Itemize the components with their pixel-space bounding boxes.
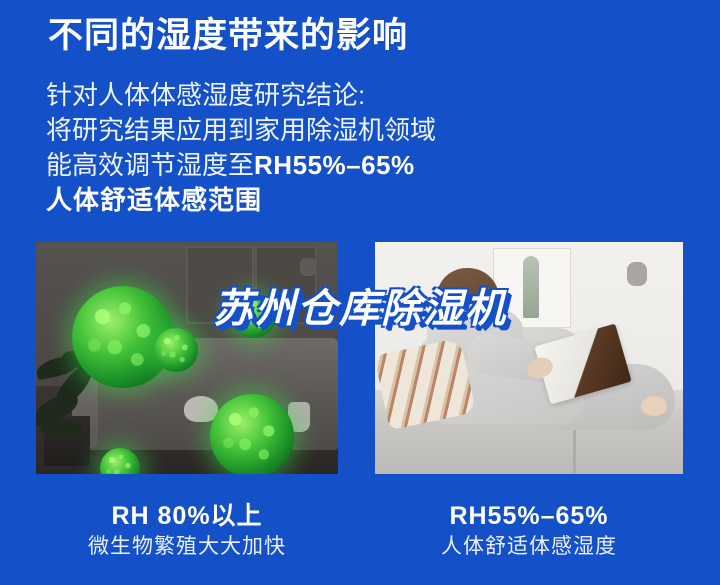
germ-cluster-bottom [210, 394, 294, 474]
germ-cluster-top [232, 294, 276, 338]
body-line-2: 将研究结果应用到家用除湿机领域 [46, 113, 436, 148]
body-copy-block: 针对人体体感湿度研究结论: 将研究结果应用到家用除湿机领域 能高效调节湿度至RH… [46, 78, 436, 218]
dark-room-scene [36, 242, 338, 474]
germ-texture [210, 394, 294, 474]
wall-switch [300, 258, 316, 276]
body-line-3-prefix: 能高效调节湿度至 [46, 150, 254, 180]
body-line-3: 能高效调节湿度至RH55%–65% [46, 148, 436, 183]
wall-knob [627, 262, 647, 286]
photo-comfort-humidity [375, 242, 683, 474]
wall-art-plant [523, 256, 539, 318]
caption-subtitle: 人体舒适体感湿度 [375, 532, 683, 562]
photo-comparison [0, 242, 720, 474]
caption-high-humidity: RH 80%以上 微生物繁殖大大加快 [36, 500, 338, 562]
caption-title: RH55%–65% [375, 500, 683, 532]
body-line-4: 人体舒适体感范围 [46, 183, 436, 218]
germ-cluster-medium [154, 328, 198, 372]
caption-subtitle: 微生物繁殖大大加快 [36, 532, 338, 562]
caption-title: RH 80%以上 [36, 500, 338, 532]
humidity-infographic-poster: 不同的湿度带来的影响 针对人体体感湿度研究结论: 将研究结果应用到家用除湿机领域… [0, 0, 720, 585]
person-foot [641, 396, 667, 416]
bright-room-scene [375, 242, 683, 474]
photo-high-humidity [36, 242, 338, 474]
body-line-1: 针对人体体感湿度研究结论: [46, 78, 436, 113]
germ-texture [232, 294, 276, 338]
page-title: 不同的湿度带来的影响 [48, 14, 408, 58]
germ-texture [154, 328, 198, 372]
caption-comfort-humidity: RH55%–65% 人体舒适体感湿度 [375, 500, 683, 562]
body-line-3-humidity-range: RH55%–65% [254, 150, 415, 180]
